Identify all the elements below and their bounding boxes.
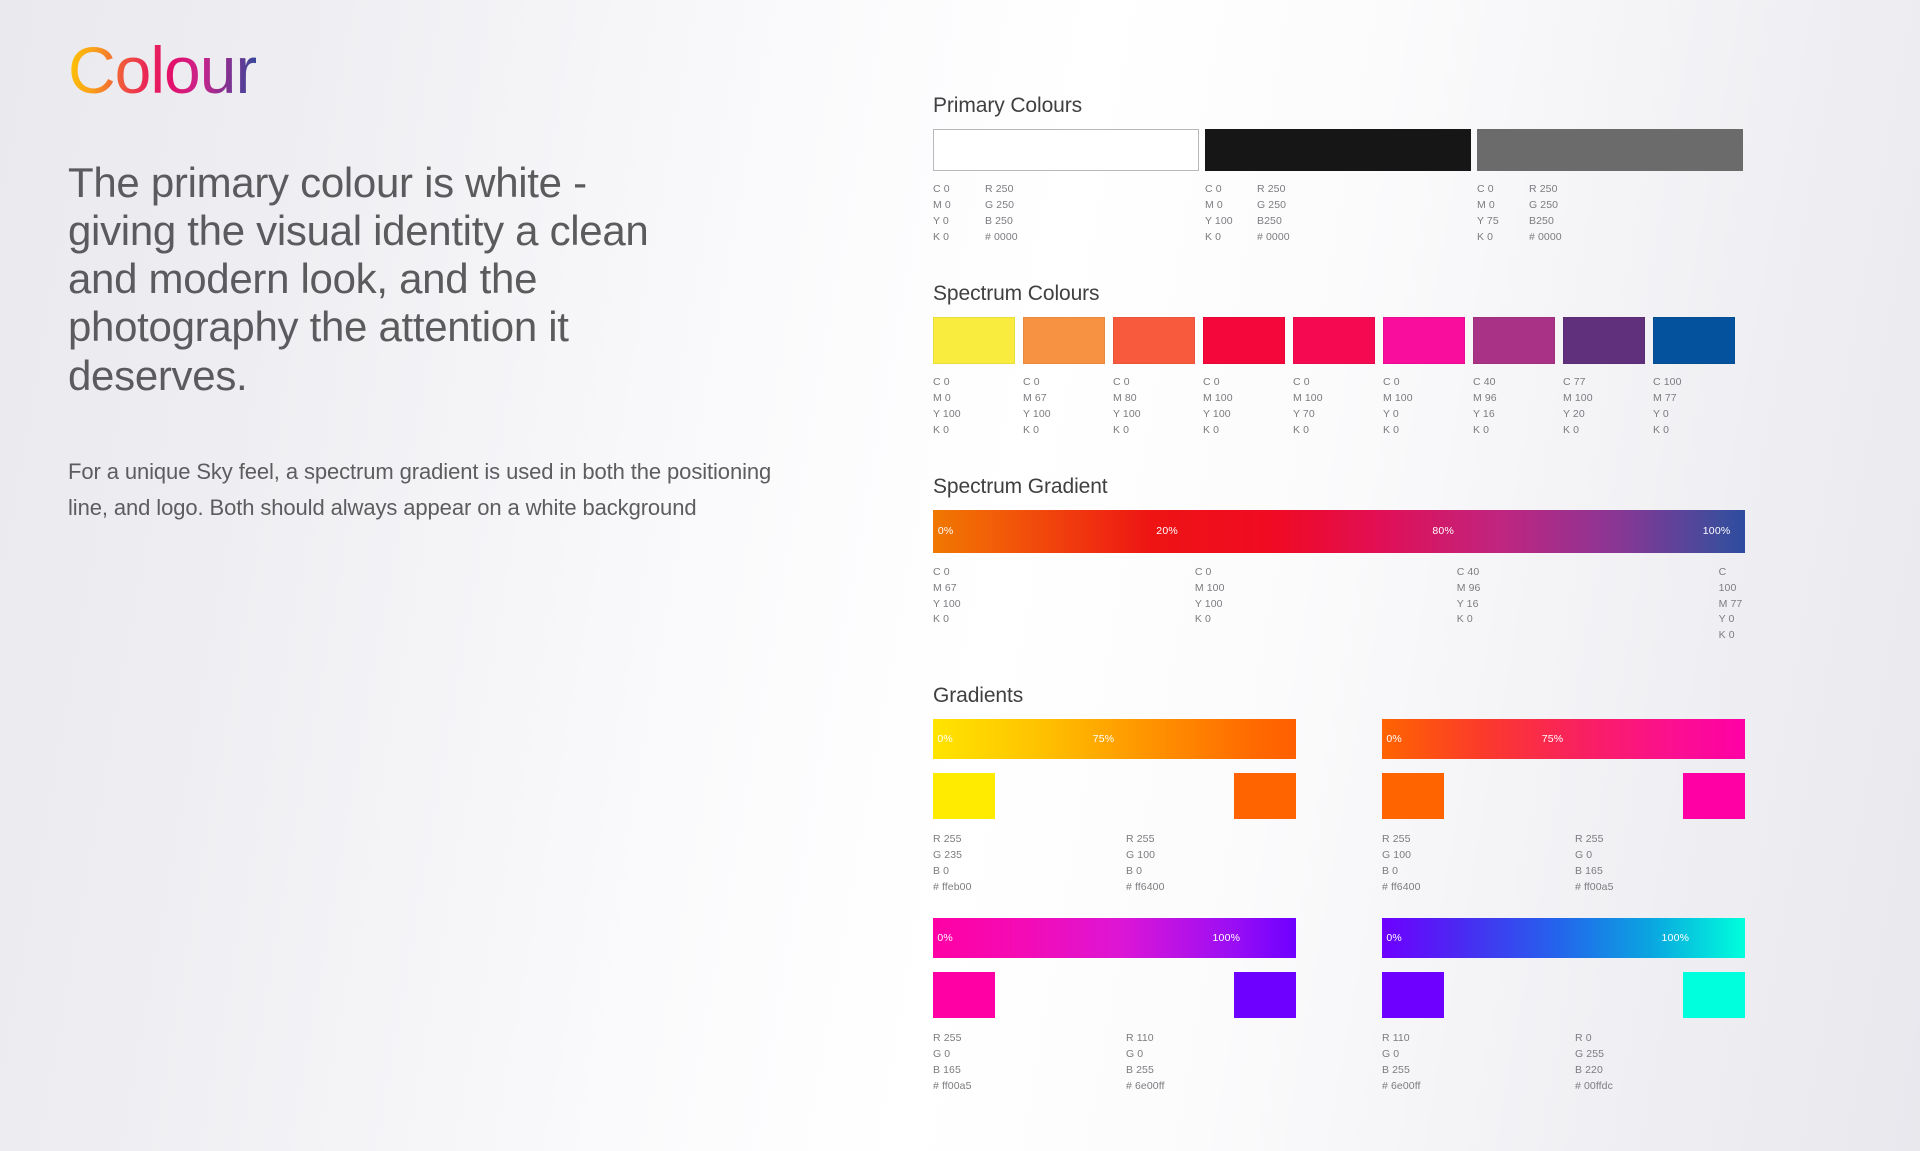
spec-line: M 77: [1719, 597, 1745, 613]
primary-colour-cell: C 0M 0Y 75K 0R 250G 250B250# 0000: [1477, 129, 1743, 246]
spec-line: # ff6400: [1382, 880, 1552, 896]
spectrum-swatch-violet[interactable]: [1563, 317, 1645, 364]
spec-line: M 77: [1653, 391, 1738, 407]
spec-line: K 0: [933, 230, 985, 246]
gradient-chip-specs: R 110G 0B 255# 6e00ffR 0G 255B 220# 00ff…: [1382, 1031, 1745, 1095]
spec-line: B 255: [1126, 1063, 1296, 1079]
spec-line: K 0: [1293, 423, 1378, 439]
spectrum-colour-cell: C 0M 100Y 100K 0: [1203, 317, 1288, 439]
gradient-cmyk-block: C 100M 77Y 0K 0: [1719, 565, 1745, 645]
spec-line: B250: [1257, 214, 1347, 230]
spec-line: R 255: [1575, 832, 1745, 848]
spec-line: B 255: [1382, 1063, 1552, 1079]
gradient-stop-label: 75%: [1542, 733, 1564, 745]
gradient-stop-label: 0%: [937, 733, 953, 745]
spec-line: K 0: [1113, 423, 1198, 439]
gradient-row-top: 0%75%R 255G 235B 0# ffeb00R 255G 100B 0#…: [933, 719, 1745, 896]
spec-line: K 0: [1383, 423, 1468, 439]
rgb-values: R 255G 100B 0# ff6400: [1126, 832, 1296, 896]
gradients-section: Gradients 0%75%R 255G 235B 0# ffeb00R 25…: [933, 684, 1745, 1095]
spec-line: C 0: [1477, 182, 1529, 198]
spec-line: # ff00a5: [933, 1079, 1103, 1095]
spec-line: Y 0: [933, 214, 985, 230]
spec-line: M 0: [1477, 198, 1529, 214]
spec-line: Y 100: [1195, 597, 1457, 613]
spec-line: C 0: [933, 565, 1195, 581]
spec-line: M 67: [1023, 391, 1108, 407]
spec-line: K 0: [1457, 612, 1719, 628]
gradient-stop-label: 20%: [1156, 525, 1178, 537]
primary-swatch-black[interactable]: [1205, 129, 1471, 171]
gradient-end-chip[interactable]: [1234, 773, 1296, 819]
spec-line: Y 0: [1653, 407, 1738, 423]
cmyk-values: C 0M 100Y 70K 0: [1293, 375, 1378, 439]
spec-line: K 0: [933, 612, 1195, 628]
spectrum-swatch-red[interactable]: [1203, 317, 1285, 364]
gradient-unit-orange-magenta: 0%75%R 255G 100B 0# ff6400R 255G 0B 165#…: [1382, 719, 1745, 896]
gradient-chip-specs: R 255G 100B 0# ff6400R 255G 0B 165# ff00…: [1382, 832, 1745, 896]
spec-line: B 250: [985, 214, 1075, 230]
primary-colours-title: Primary Colours: [933, 94, 1745, 118]
cmyk-values: C 0M 0Y 75K 0: [1477, 182, 1529, 246]
spec-line: C 40: [1473, 375, 1558, 391]
spec-line: Y 0: [1719, 612, 1745, 628]
rgb-values: R 255G 100B 0# ff6400: [1382, 832, 1552, 896]
spec-line: K 0: [1653, 423, 1738, 439]
cmyk-values: C 0M 80Y 100K 0: [1113, 375, 1198, 439]
gradient-end-chip[interactable]: [1683, 773, 1745, 819]
spec-line: B 0: [933, 864, 1103, 880]
spec-line: R 255: [1382, 832, 1552, 848]
spec-line: G 0: [933, 1047, 1103, 1063]
spectrum-colour-cell: C 100M 77Y 0K 0: [1653, 317, 1738, 439]
spec-line: K 0: [1477, 230, 1529, 246]
cmyk-values: C 0M 0Y 100K 0: [933, 375, 1018, 439]
gradient-chip-row: [1382, 972, 1745, 1018]
spectrum-swatch-blue[interactable]: [1653, 317, 1735, 364]
spec-line: # 6e00ff: [1382, 1079, 1552, 1095]
spec-line: Y 20: [1563, 407, 1648, 423]
spec-line: # 0000: [985, 230, 1075, 246]
spec-line: C 40: [1457, 565, 1719, 581]
cmyk-values: C 0M 0Y 100K 0: [1205, 182, 1257, 246]
spec-line: Y 100: [1203, 407, 1288, 423]
rgb-values: R 250G 250B250# 0000: [1529, 182, 1619, 246]
spec-line: C 0: [1023, 375, 1108, 391]
spec-line: G 0: [1126, 1047, 1296, 1063]
gradient-stop-label: 100%: [1662, 932, 1690, 944]
gradient-chip-specs: R 255G 235B 0# ffeb00R 255G 100B 0# ff64…: [933, 832, 1296, 896]
spectrum-colours-title: Spectrum Colours: [933, 282, 1745, 306]
spec-line: B 165: [1575, 864, 1745, 880]
spec-line: K 0: [1023, 423, 1108, 439]
body-paragraph: For a unique Sky feel, a spectrum gradie…: [68, 454, 778, 527]
gradient-stop-label: 0%: [938, 525, 954, 537]
spec-line: K 0: [1473, 423, 1558, 439]
gradient-chip-row: [1382, 773, 1745, 819]
spectrum-colour-cell: C 77M 100Y 20K 0: [1563, 317, 1648, 439]
spec-line: Y 100: [1023, 407, 1108, 423]
spec-line: B250: [1529, 214, 1619, 230]
gradient-cmyk-block: C 40M 96Y 16K 0: [1457, 565, 1719, 645]
primary-swatch-row: C 0M 0Y 0K 0R 250G 250B 250# 0000C 0M 0Y…: [933, 129, 1745, 246]
rgb-values: R 255G 0B 165# ff00a5: [933, 1031, 1103, 1095]
spec-line: Y 75: [1477, 214, 1529, 230]
cmyk-values: C 77M 100Y 20K 0: [1563, 375, 1648, 439]
spec-line: # 6e00ff: [1126, 1079, 1296, 1095]
spectrum-colours-section: Spectrum Colours C 0M 0Y 100K 0C 0M 67Y …: [933, 282, 1745, 439]
spec-line: R 255: [933, 832, 1103, 848]
gradient-start-chip[interactable]: [933, 773, 995, 819]
cmyk-values: C 0M 100Y 0K 0: [1383, 375, 1468, 439]
spec-line: C 0: [1195, 565, 1457, 581]
spectrum-colour-cell: C 0M 100Y 70K 0: [1293, 317, 1378, 439]
rgb-values: R 110G 0B 255# 6e00ff: [1382, 1031, 1552, 1095]
spec-line: M 100: [1383, 391, 1468, 407]
spec-line: # ffeb00: [933, 880, 1103, 896]
spec-line: G 100: [1382, 848, 1552, 864]
primary-spec-block: C 0M 0Y 0K 0R 250G 250B 250# 0000: [933, 182, 1199, 246]
spec-line: R 250: [1529, 182, 1619, 198]
cmyk-values: C 0M 67Y 100K 0: [1023, 375, 1108, 439]
spec-line: C 0: [1203, 375, 1288, 391]
spec-line: Y 0: [1383, 407, 1468, 423]
cmyk-values: C 100M 77Y 0K 0: [1653, 375, 1738, 439]
spectrum-colour-cell: C 0M 80Y 100K 0: [1113, 317, 1198, 439]
gradient-stop-label: 100%: [1703, 525, 1731, 537]
spec-line: R 110: [1126, 1031, 1296, 1047]
gradients-title: Gradients: [933, 684, 1745, 708]
cmyk-values: C 40M 96Y 16K 0: [1473, 375, 1558, 439]
spec-line: # ff6400: [1126, 880, 1296, 896]
spec-line: M 100: [1203, 391, 1288, 407]
page-title: Colour: [68, 34, 256, 107]
spec-line: B 0: [1382, 864, 1552, 880]
primary-colour-cell: C 0M 0Y 100K 0R 250G 250B250# 0000: [1205, 129, 1471, 246]
spec-line: G 100: [1126, 848, 1296, 864]
spec-line: R 250: [1257, 182, 1347, 198]
gradient-unit-magenta-violet: 0%100%R 255G 0B 165# ff00a5R 110G 0B 255…: [933, 918, 1296, 1095]
spectrum-swatch-crimson[interactable]: [1293, 317, 1375, 364]
gradient-cmyk-block: C 0M 67Y 100K 0: [933, 565, 1195, 645]
spec-line: K 0: [1719, 628, 1745, 644]
spec-line: # ff00a5: [1575, 880, 1745, 896]
swatch-column: Primary Colours C 0M 0Y 0K 0R 250G 250B …: [933, 94, 1745, 1101]
spectrum-swatch-row: C 0M 0Y 100K 0C 0M 67Y 100K 0C 0M 80Y 10…: [933, 317, 1745, 439]
rgb-values: R 0G 255B 220# 00ffdc: [1575, 1031, 1745, 1095]
rgb-values: R 250G 250B 250# 0000: [985, 182, 1075, 246]
spec-line: C 100: [1653, 375, 1738, 391]
spec-line: C 0: [1113, 375, 1198, 391]
spectrum-gradient-bar: 0%20%80%100%: [933, 510, 1745, 553]
spec-line: G 0: [1575, 848, 1745, 864]
spec-line: Y 16: [1473, 407, 1558, 423]
primary-colour-cell: C 0M 0Y 0K 0R 250G 250B 250# 0000: [933, 129, 1199, 246]
spec-line: M 96: [1457, 581, 1719, 597]
spec-line: # 0000: [1529, 230, 1619, 246]
spec-line: Y 100: [933, 597, 1195, 613]
spec-line: M 100: [1293, 391, 1378, 407]
rgb-values: R 250G 250B250# 0000: [1257, 182, 1347, 246]
spectrum-swatch-vermilion[interactable]: [1113, 317, 1195, 364]
gradient-chip-row: [933, 773, 1296, 819]
gradient-row-bottom: 0%100%R 255G 0B 165# ff00a5R 110G 0B 255…: [933, 918, 1745, 1095]
spec-line: C 0: [1293, 375, 1378, 391]
gradient-bar-orange-magenta[interactable]: 0%75%: [1382, 719, 1745, 759]
gradient-chip-specs: R 255G 0B 165# ff00a5R 110G 0B 255# 6e00…: [933, 1031, 1296, 1095]
primary-swatch-grey[interactable]: [1477, 129, 1743, 171]
spec-line: B 165: [933, 1063, 1103, 1079]
spec-line: M 0: [933, 198, 985, 214]
spec-line: C 0: [1383, 375, 1468, 391]
spec-line: # 0000: [1257, 230, 1347, 246]
primary-spec-block: C 0M 0Y 100K 0R 250G 250B250# 0000: [1205, 182, 1471, 246]
spectrum-gradient-title: Spectrum Gradient: [933, 475, 1745, 499]
spec-line: G 250: [985, 198, 1075, 214]
primary-swatch-white[interactable]: [933, 129, 1199, 171]
gradient-end-chip[interactable]: [1234, 972, 1296, 1018]
spec-line: C 0: [933, 375, 1018, 391]
rgb-values: R 255G 0B 165# ff00a5: [1575, 832, 1745, 896]
primary-spec-block: C 0M 0Y 75K 0R 250G 250B250# 0000: [1477, 182, 1743, 246]
spec-line: # 00ffdc: [1575, 1079, 1745, 1095]
spec-line: K 0: [1205, 230, 1257, 246]
spec-line: K 0: [1203, 423, 1288, 439]
spec-line: G 255: [1575, 1047, 1745, 1063]
cmyk-values: C 0M 100Y 100K 0: [1203, 375, 1288, 439]
gradient-stop-label: 0%: [1386, 733, 1402, 745]
spec-line: R 110: [1382, 1031, 1552, 1047]
spec-line: K 0: [1195, 612, 1457, 628]
spectrum-gradient-specs: C 0M 67Y 100K 0C 0M 100Y 100K 0C 40M 96Y…: [933, 565, 1745, 645]
intro-column: Colour The primary colour is white - giv…: [68, 34, 828, 527]
spec-line: B 220: [1575, 1063, 1745, 1079]
spec-line: K 0: [933, 423, 1018, 439]
spec-line: C 0: [1205, 182, 1257, 198]
gradient-bar-magenta-violet[interactable]: 0%100%: [933, 918, 1296, 958]
gradient-unit-yellow-orange: 0%75%R 255G 235B 0# ffeb00R 255G 100B 0#…: [933, 719, 1296, 896]
spec-line: C 100: [1719, 565, 1745, 597]
gradient-end-chip[interactable]: [1683, 972, 1745, 1018]
spectrum-swatch-purple-pink[interactable]: [1473, 317, 1555, 364]
gradient-stop-label: 0%: [1386, 932, 1402, 944]
spectrum-swatch-orange[interactable]: [1023, 317, 1105, 364]
primary-colours-section: Primary Colours C 0M 0Y 0K 0R 250G 250B …: [933, 94, 1745, 246]
gradient-bar-violet-cyan[interactable]: 0%100%: [1382, 918, 1745, 958]
spec-line: G 250: [1257, 198, 1347, 214]
gradient-chip-row: [933, 972, 1296, 1018]
spec-line: M 80: [1113, 391, 1198, 407]
spec-line: Y 70: [1293, 407, 1378, 423]
spectrum-swatch-yellow[interactable]: [933, 317, 1015, 364]
spec-line: M 0: [933, 391, 1018, 407]
spectrum-colour-cell: C 40M 96Y 16K 0: [1473, 317, 1558, 439]
spec-line: K 0: [1563, 423, 1648, 439]
gradient-stop-label: 75%: [1093, 733, 1115, 745]
spec-line: M 96: [1473, 391, 1558, 407]
gradient-stop-label: 0%: [937, 932, 953, 944]
spectrum-gradient-section: Spectrum Gradient 0%20%80%100% C 0M 67Y …: [933, 475, 1745, 645]
spec-line: C 0: [933, 182, 985, 198]
gradient-unit-violet-cyan: 0%100%R 110G 0B 255# 6e00ffR 0G 255B 220…: [1382, 918, 1745, 1095]
spec-line: G 235: [933, 848, 1103, 864]
lead-paragraph: The primary colour is white - giving the…: [68, 159, 668, 400]
cmyk-values: C 0M 0Y 0K 0: [933, 182, 985, 246]
gradient-start-chip[interactable]: [1382, 773, 1444, 819]
spec-line: C 77: [1563, 375, 1648, 391]
spec-line: Y 16: [1457, 597, 1719, 613]
spectrum-colour-cell: C 0M 0Y 100K 0: [933, 317, 1018, 439]
spec-line: R 0: [1575, 1031, 1745, 1047]
spec-line: R 250: [985, 182, 1075, 198]
rgb-values: R 110G 0B 255# 6e00ff: [1126, 1031, 1296, 1095]
spec-line: G 0: [1382, 1047, 1552, 1063]
spec-line: M 100: [1195, 581, 1457, 597]
gradient-stop-label: 80%: [1432, 525, 1454, 537]
spec-line: B 0: [1126, 864, 1296, 880]
gradient-cmyk-block: C 0M 100Y 100K 0: [1195, 565, 1457, 645]
spectrum-swatch-magenta[interactable]: [1383, 317, 1465, 364]
spec-line: M 100: [1563, 391, 1648, 407]
spec-line: Y 100: [1205, 214, 1257, 230]
rgb-values: R 255G 235B 0# ffeb00: [933, 832, 1103, 896]
spectrum-colour-cell: C 0M 100Y 0K 0: [1383, 317, 1468, 439]
gradient-start-chip[interactable]: [1382, 972, 1444, 1018]
spec-line: R 255: [933, 1031, 1103, 1047]
spec-line: Y 100: [933, 407, 1018, 423]
gradient-bar-yellow-orange[interactable]: 0%75%: [933, 719, 1296, 759]
gradient-start-chip[interactable]: [933, 972, 995, 1018]
spec-line: G 250: [1529, 198, 1619, 214]
spec-line: M 0: [1205, 198, 1257, 214]
spec-line: M 67: [933, 581, 1195, 597]
spec-line: R 255: [1126, 832, 1296, 848]
spec-line: Y 100: [1113, 407, 1198, 423]
gradient-stop-label: 100%: [1213, 932, 1241, 944]
spectrum-colour-cell: C 0M 67Y 100K 0: [1023, 317, 1108, 439]
